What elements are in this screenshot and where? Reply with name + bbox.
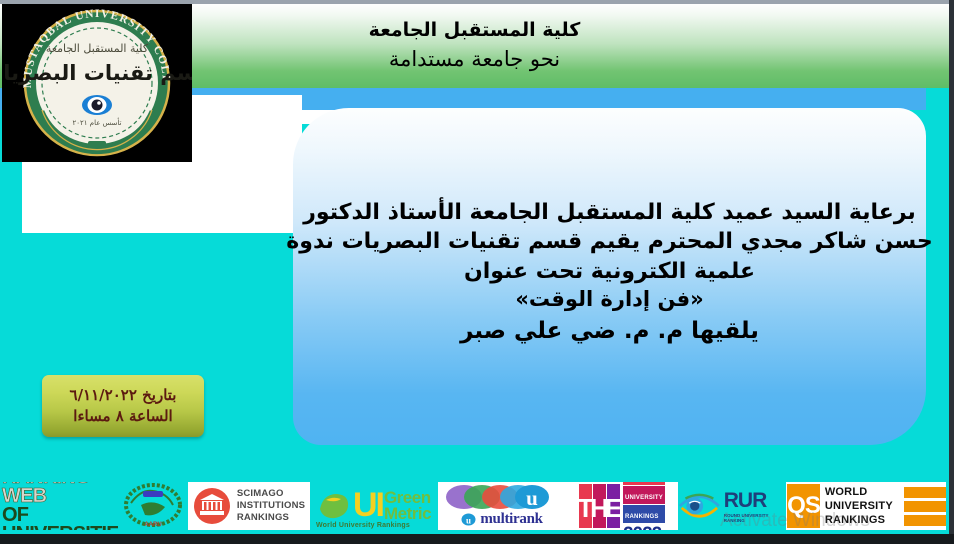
slide-top-frame [0,0,954,4]
multirank-circles-icon: u [442,484,562,510]
announcement-text-group: برعاية السيد عميد كلية المستقبل الجامعة … [293,108,926,445]
the-sub3: RANKINGS [625,514,659,520]
announcement-line-2: حسن شاكر مجدي المحترم يقيم قسم تقنيات ال… [286,227,932,256]
qs-row-1: WORLD [825,486,946,498]
logo-times-higher-education: T H E WORLD UNIVERSITY RANKINGS 2022 [566,482,678,530]
aaru-wreath-icon: AARU [121,483,185,529]
logo-aaru: AARU [118,482,188,530]
logo-round-university-ranking: RUR ROUND UNIVERSITY RANKING [678,482,786,530]
qs-line1: WORLD [825,486,899,498]
rur-mark: RUR [724,489,767,513]
header-title-line1: كلية المستقبل الجامعة [369,19,581,43]
logo-ranking-web-of-universities: RANKING WEB OF UNIVERSITIES [0,482,118,530]
greenmetric-subtitle: World University Rankings [316,522,410,529]
qs-line2: UNIVERSITY [825,500,899,512]
university-seal-logo: AL-MUSTAQBAL UNIVERSITY COLLEGE كلية الم… [2,4,192,162]
ranking-logos-strip: RANKING WEB OF UNIVERSITIES AARU [0,478,949,534]
rur-globe-eye-icon [678,486,721,526]
svg-text:قسم تقنيات البصريات: قسم تقنيات البصريات [2,61,192,85]
scimago-building-icon [193,487,231,525]
badge-date: بتاريخ ٦/١١/٢٠٢٢ [70,385,177,406]
greenmetric-leaf-icon [317,491,351,521]
aaru-label: AARU [144,522,161,528]
rur-subtitle: ROUND UNIVERSITY RANKING [724,513,786,524]
scimago-line3: RANKINGS [237,512,305,524]
qs-bar-3 [904,515,946,526]
scimago-line2: INSTITUTIONS [237,500,305,512]
the-year: 2022 [623,524,665,531]
qs-bar-1 [904,487,946,498]
svg-text:u: u [466,516,471,526]
accent-blue-band-cap [926,88,949,110]
the-mark-icon: T H E [579,484,621,528]
multirank-word: multirank [480,511,542,528]
badge-time: الساعة ٨ مساءا [73,406,172,427]
main-content-panel: برعاية السيد عميد كلية المستقبل الجامعة … [293,108,926,445]
qs-line3: RANKINGS [825,514,899,526]
logo-qs-world-university-rankings: QS WORLD UNIVERSITY RANKINGS [786,482,946,530]
seal-icon: AL-MUSTAQBAL UNIVERSITY COLLEGE كلية الم… [2,4,192,162]
qs-row-3: RANKINGS [825,514,946,526]
header-title-line2: نحو جامعة مستدامة [389,46,560,72]
date-time-badge: بتاريخ ٦/١١/٢٠٢٢ الساعة ٨ مساءا [42,375,204,437]
svg-text:E: E [605,493,621,523]
scimago-line1: SCIMAGO [237,488,305,500]
qs-text-block: WORLD UNIVERSITY RANKINGS [825,486,946,526]
logo-u-multirank: u u multirank [438,482,566,530]
the-sub2: UNIVERSITY [625,495,663,501]
greenmetric-mark: UI [353,492,383,519]
qs-row-2: UNIVERSITY [825,500,946,512]
scimago-text-block: SCIMAGO INSTITUTIONS RANKINGS [237,488,305,524]
announcement-line-1: برعاية السيد عميد كلية المستقبل الجامعة … [303,198,916,227]
logo-scimago: SCIMAGO INSTITUTIONS RANKINGS [188,482,310,530]
svg-text:تأسس عام ٢٠٢١: تأسس عام ٢٠٢١ [72,117,121,127]
greenmetric-line2: Metric [384,506,431,522]
announcement-line-3: علمية الكترونية تحت عنوان [464,257,755,286]
logo-ui-greenmetric: UI Green Metric World University Ranking… [310,482,438,530]
webometrics-line1: RANKING WEB [2,482,118,506]
seminar-title: «فن إدارة الوقت» [515,286,703,314]
slide-bottom-frame [0,534,954,544]
multirank-small-mark-icon: u [461,513,476,526]
svg-text:كلية المستقبل الجامعة: كلية المستقبل الجامعة [46,42,149,55]
slide-right-frame [949,0,954,536]
qs-mark: QS [787,484,820,528]
webometrics-line2: OF UNIVERSITIES [2,506,118,530]
svg-text:u: u [526,486,538,510]
speaker-name: يلقيها م. م. ضي علي صبر [460,316,759,347]
presentation-slide: كلية المستقبل الجامعة نحو جامعة مستدامة … [0,0,954,544]
qs-bar-2 [904,501,946,512]
